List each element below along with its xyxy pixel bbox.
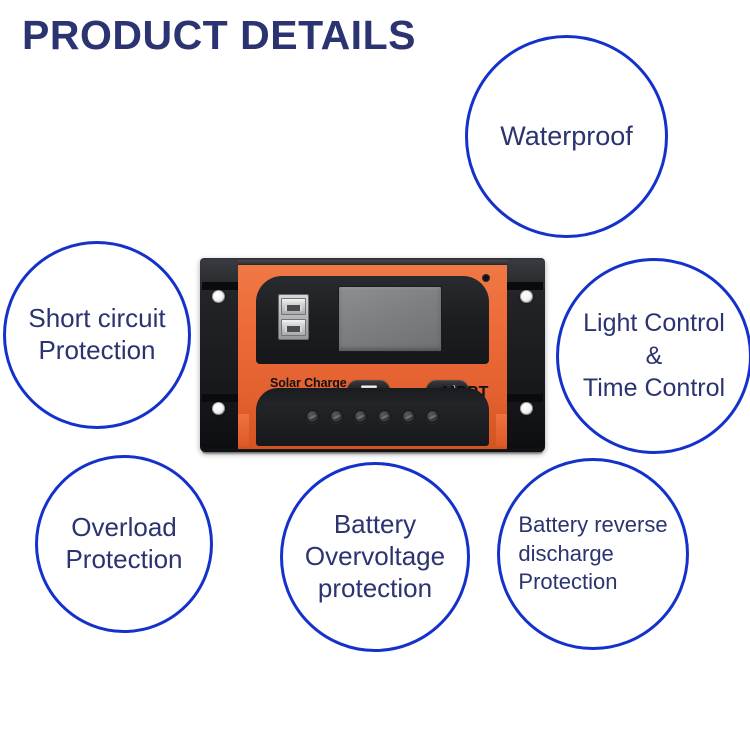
lcd-display xyxy=(338,286,442,352)
flange-notch xyxy=(202,282,238,290)
feature-circle-battery-overvoltage: Battery Overvoltage protection xyxy=(280,462,470,652)
feature-label-overload: Overload Protection xyxy=(65,512,182,575)
feature-label-battery-overvoltage: Battery Overvoltage protection xyxy=(305,509,445,604)
feature-circle-short-circuit: Short circuit Protection xyxy=(3,241,191,429)
terminal-screw-icon xyxy=(378,410,391,423)
infographic-canvas: PRODUCT DETAILS Waterproof Short circuit… xyxy=(0,0,750,750)
terminal-screw-icon xyxy=(426,410,439,423)
terminal-screw-icon xyxy=(402,410,415,423)
led-indicator-icon xyxy=(482,274,490,282)
usb-port-icon xyxy=(281,298,306,315)
usb-ports-block xyxy=(278,294,309,340)
terminal-screw-icon xyxy=(306,410,319,423)
feature-label-battery-reverse-discharge: Battery reverse discharge Protection xyxy=(518,511,667,597)
feature-circle-battery-reverse-discharge: Battery reverse discharge Protection xyxy=(497,458,689,650)
screw-hole xyxy=(520,402,533,415)
screw-hole xyxy=(212,402,225,415)
mounting-flange-left xyxy=(200,260,240,448)
terminal-row xyxy=(256,410,489,423)
device-side-strip-right xyxy=(496,414,507,446)
screw-hole xyxy=(520,290,533,303)
mounting-flange-right xyxy=(505,260,545,448)
terminal-screw-icon xyxy=(354,410,367,423)
usb-port-icon xyxy=(281,319,306,336)
device-lower-panel xyxy=(256,388,489,446)
feature-circle-overload: Overload Protection xyxy=(35,455,213,633)
flange-notch xyxy=(507,394,543,402)
page-title: PRODUCT DETAILS xyxy=(22,12,416,59)
flange-notch xyxy=(507,282,543,290)
feature-circle-waterproof: Waterproof xyxy=(465,35,668,238)
device-faceplate: Solar Charge Controller MPPT xyxy=(238,260,507,450)
feature-label-short-circuit: Short circuit Protection xyxy=(28,303,165,366)
terminal-screw-icon xyxy=(330,410,343,423)
device-side-strip-left xyxy=(238,414,249,446)
screw-hole xyxy=(212,290,225,303)
feature-label-light-time-control: Light Control & Time Control xyxy=(583,307,725,405)
flange-notch xyxy=(202,394,238,402)
device-top-lip xyxy=(238,260,507,265)
feature-circle-light-time-control: Light Control & Time Control xyxy=(556,258,750,454)
device-base-edge xyxy=(202,449,543,455)
feature-label-waterproof: Waterproof xyxy=(500,120,633,153)
product-image-solar-charge-controller: Solar Charge Controller MPPT xyxy=(200,258,545,452)
